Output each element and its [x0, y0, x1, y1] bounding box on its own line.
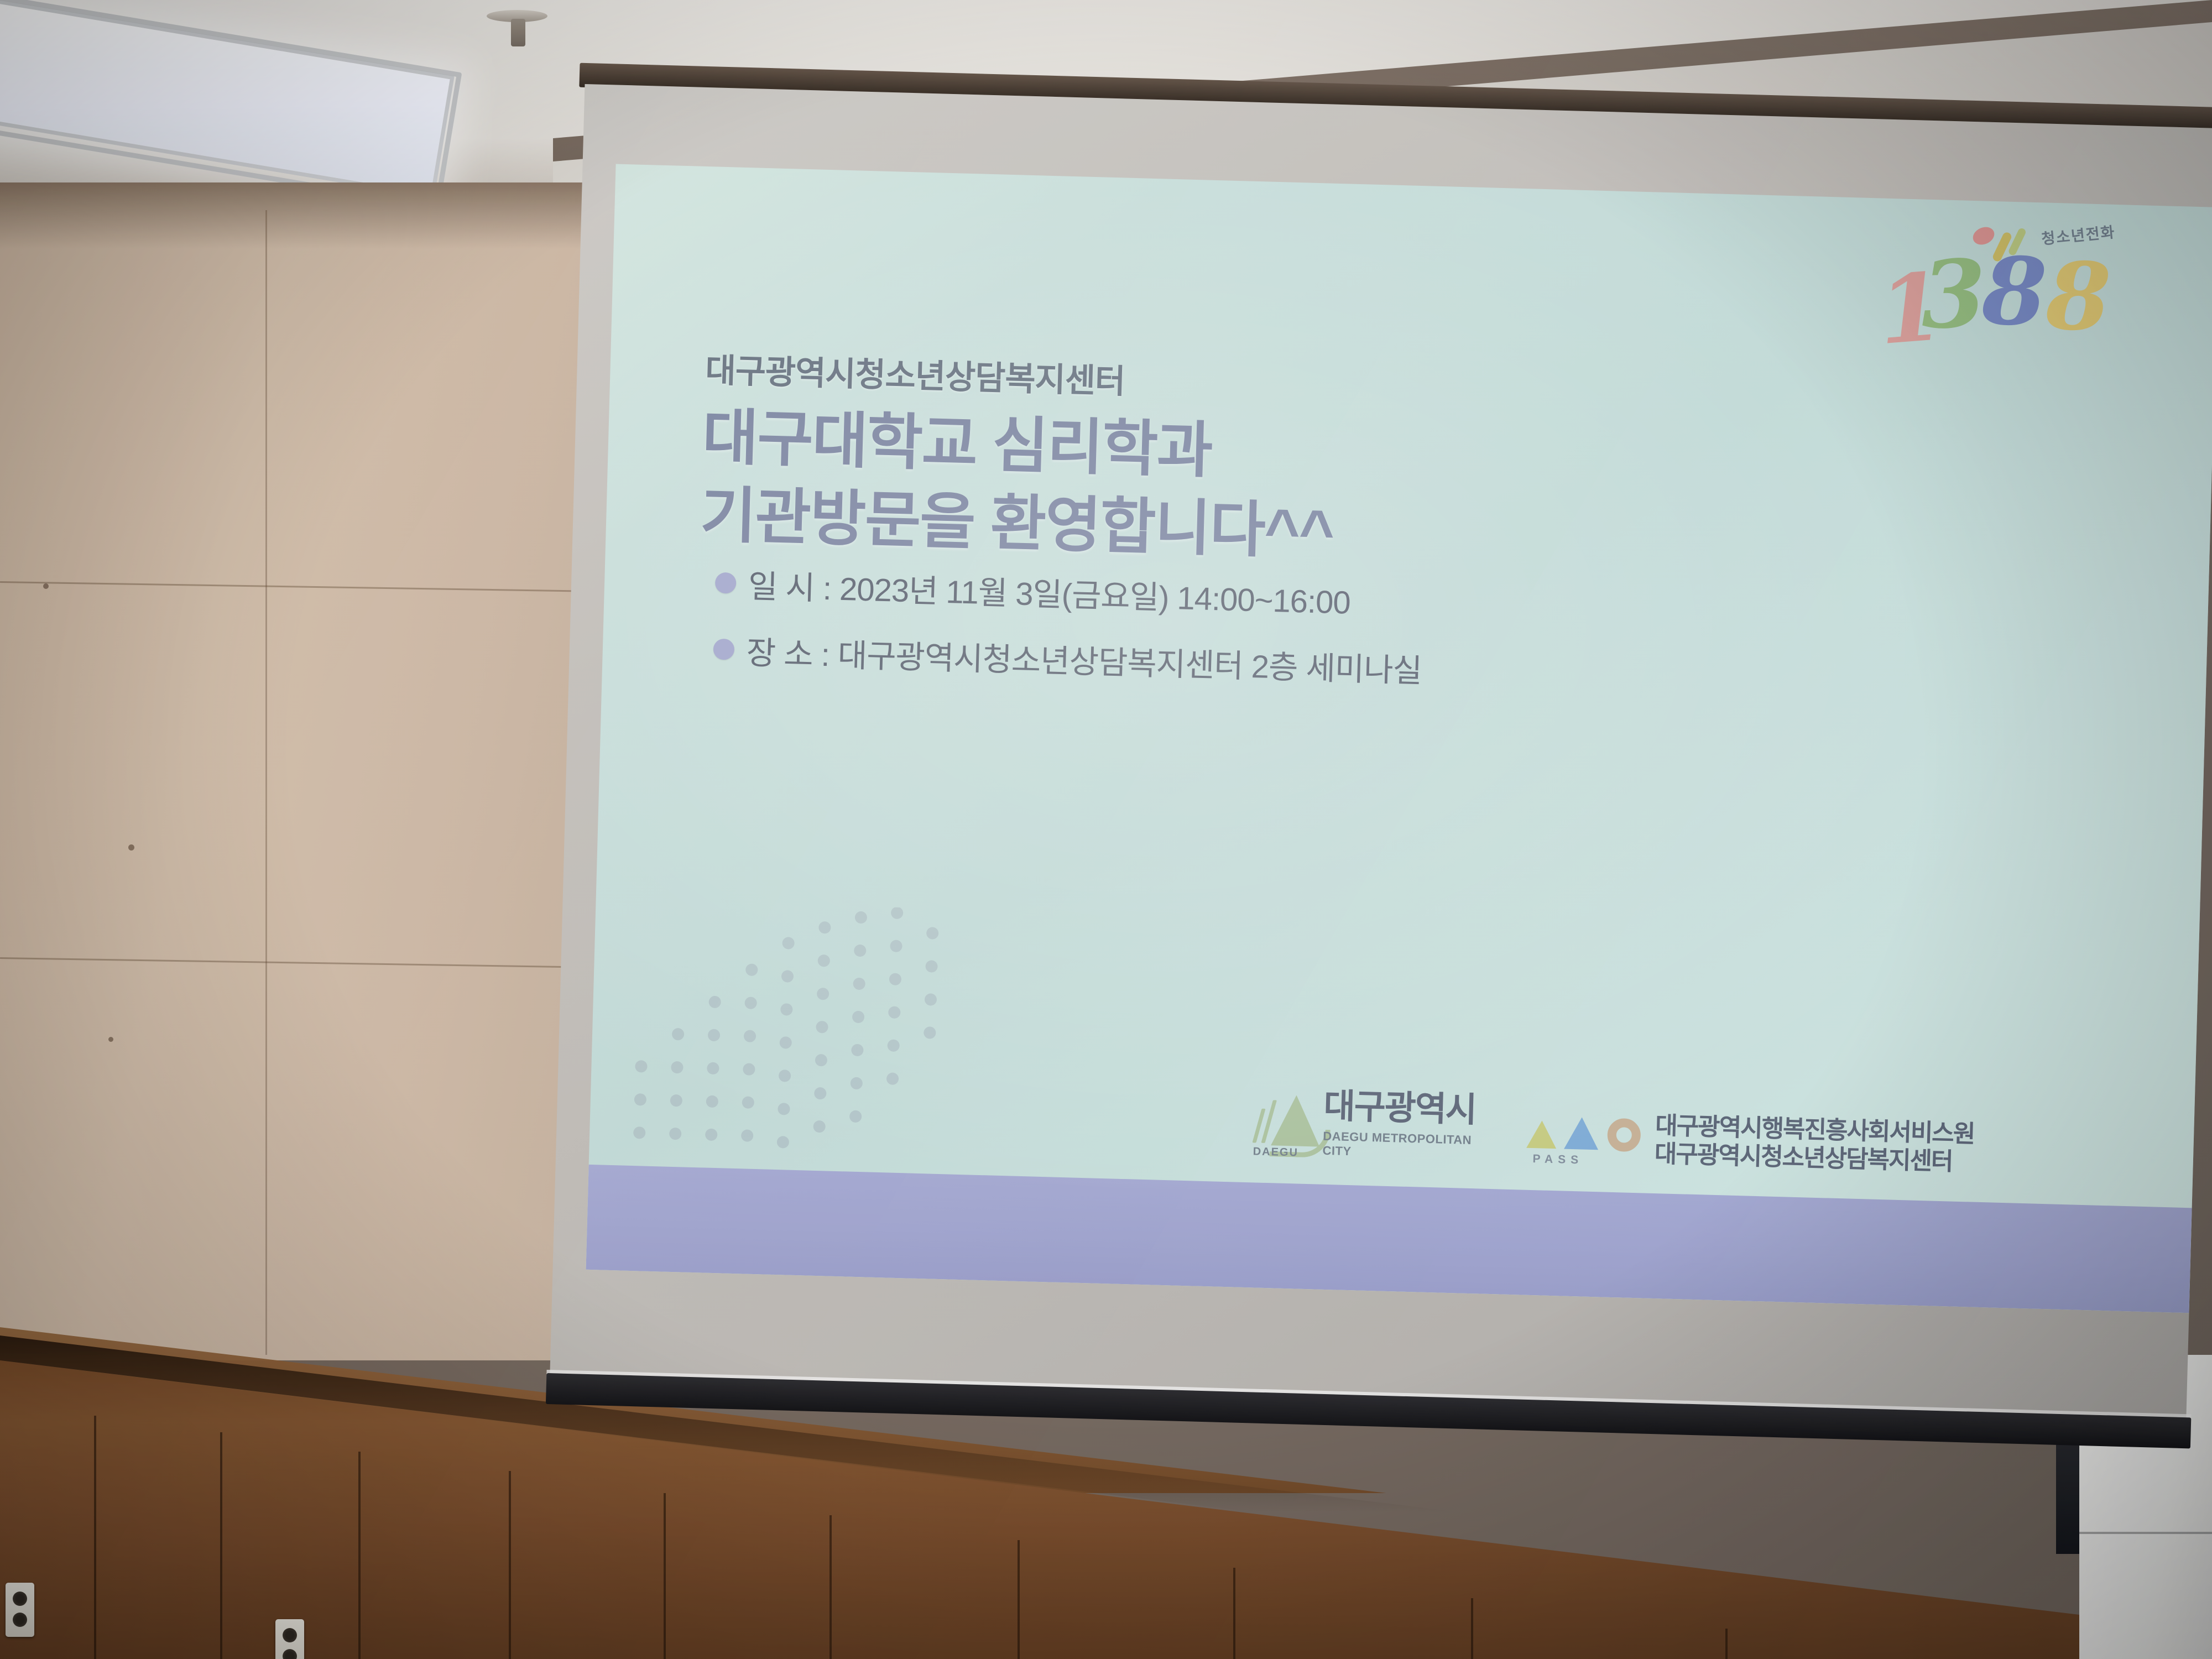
dot-pattern-decoration	[622, 900, 972, 1170]
power-outlet	[6, 1583, 34, 1637]
daegu-mark-caption: DAEGU	[1253, 1145, 1298, 1159]
screenshot-root: 청소년전화 1 3 8 8 대구광역시청소년상담복지센터 대구대학교 심리학과 …	[0, 0, 2212, 1659]
wood-panel-seam	[1233, 1568, 1235, 1659]
power-outlet	[275, 1619, 304, 1659]
wood-panel-seam	[1725, 1629, 1728, 1659]
wood-panel-seam	[1471, 1598, 1473, 1659]
slide-eyebrow: 대구광역시청소년상담복지센터	[705, 343, 1126, 403]
wood-panel-seam	[1018, 1540, 1020, 1659]
wood-panel-seam	[220, 1432, 222, 1659]
logo-1388-digit-8-blue: 8	[1981, 244, 2048, 338]
pass-mark-icon: PASS	[1524, 1100, 1652, 1170]
slide-detail-list: 일 시 : 2023년 11월 3일(금요일) 14:00~16:00 장 소 …	[712, 560, 1425, 712]
bullet-icon	[715, 572, 737, 594]
detail-date-text: 일 시 : 2023년 11월 3일(금요일) 14:00~16:00	[748, 560, 1351, 623]
wood-panel-seam	[664, 1493, 666, 1659]
wood-panel-seam	[94, 1416, 96, 1659]
white-unit-seam	[2079, 1532, 2212, 1534]
wall-top-shadow	[0, 182, 630, 249]
pass-mark-caption: PASS	[1532, 1152, 1583, 1167]
wood-panel-seam	[830, 1515, 832, 1659]
logo-1388: 청소년전화 1 3 8 8	[1872, 218, 2185, 375]
logo-1388-digit-3: 3	[1920, 247, 1987, 342]
acoustic-wall-left	[0, 182, 630, 1360]
wall-speck	[128, 844, 134, 851]
projected-slide: 청소년전화 1 3 8 8 대구광역시청소년상담복지센터 대구대학교 심리학과 …	[586, 164, 2212, 1313]
pass-wordmark: 대구광역시행복진흥사회서비스원 대구광역시청소년상담복지센터	[1654, 1112, 1975, 1179]
projection-screen: 청소년전화 1 3 8 8 대구광역시청소년상담복지센터 대구대학교 심리학과 …	[548, 33, 2212, 1493]
bullet-icon	[713, 639, 734, 660]
daegu-triangle-icon: DAEGU	[1247, 1086, 1318, 1161]
logo-pass-center: PASS 대구광역시행복진흥사회서비스원 대구광역시청소년상담복지센터	[1524, 1100, 1975, 1179]
wood-panel-seam	[509, 1471, 511, 1659]
wall-speck	[108, 1037, 113, 1042]
wood-panel-seam	[358, 1452, 361, 1659]
wall-panel-seam	[265, 210, 267, 1355]
daegu-english-name: DAEGU METROPOLITAN CITY	[1322, 1129, 1486, 1162]
logo-daegu-metropolitan-city: DAEGU 대구광역시 DAEGU METROPOLITAN CITY	[1247, 1082, 1487, 1166]
wall-speck	[43, 583, 49, 589]
slide-footer-logos: DAEGU 대구광역시 DAEGU METROPOLITAN CITY PASS	[1247, 1082, 1975, 1178]
fire-sprinkler-icon	[487, 6, 553, 50]
detail-place-text: 장 소 : 대구광역시청소년상담복지센터 2층 세미나실	[746, 627, 1422, 691]
logo-1388-digit-8-yellow: 8	[2045, 249, 2112, 344]
slide-headline: 대구대학교 심리학과 기관방문을 환영합니다^^	[700, 399, 1920, 587]
daegu-wordmark: 대구광역시 DAEGU METROPOLITAN CITY	[1322, 1089, 1487, 1166]
list-item: 장 소 : 대구광역시청소년상담복지센터 2층 세미나실	[713, 626, 1422, 692]
daegu-korean-name: 대구광역시	[1323, 1089, 1487, 1128]
